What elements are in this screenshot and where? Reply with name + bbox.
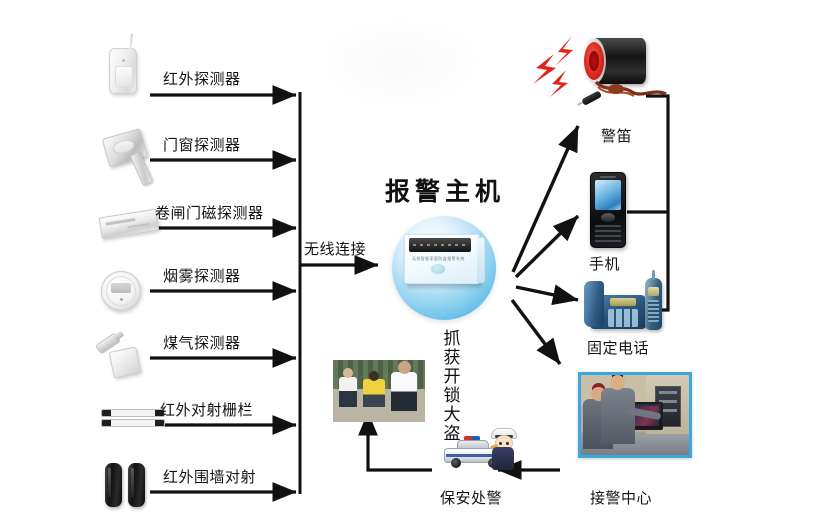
beam-unit-left bbox=[105, 463, 122, 507]
host-brand-text: 无线智能家庭防盗报警系统 bbox=[412, 256, 465, 262]
input-label-0: 红外探测器 bbox=[163, 68, 241, 89]
mobile-phone-icon bbox=[590, 172, 626, 248]
handset-keypad bbox=[648, 300, 659, 322]
suspect-center bbox=[363, 379, 385, 408]
phone-cradle bbox=[584, 281, 604, 327]
landline-phone-icon bbox=[584, 281, 646, 329]
handset-antenna bbox=[652, 270, 655, 280]
background-watermark bbox=[300, 8, 500, 118]
lens bbox=[115, 66, 133, 87]
output-label-3: 接警中心 bbox=[590, 487, 652, 508]
door-window-contact-slim bbox=[130, 151, 154, 187]
input-label-6: 红外围墙对射 bbox=[163, 466, 256, 487]
person-left bbox=[339, 377, 357, 407]
input-label-1: 门窗探测器 bbox=[163, 134, 241, 155]
cordless-handset-icon bbox=[645, 278, 662, 330]
arrest-caption-vertical: 抓获开锁大盗 bbox=[442, 330, 462, 444]
infrared-beam-fence-icon bbox=[101, 408, 163, 430]
host-logo bbox=[431, 264, 445, 274]
beam-rail-bottom bbox=[101, 419, 165, 427]
infrared-wall-beam-icon bbox=[105, 463, 149, 507]
earpiece bbox=[600, 176, 616, 178]
input-label-4: 煤气探测器 bbox=[163, 332, 241, 353]
gas-detector-icon bbox=[108, 346, 141, 378]
beam-rail-top bbox=[101, 409, 165, 417]
alarm-host-device: 无线智能家庭防盗报警系统 bbox=[404, 234, 480, 284]
smoke-detector-icon bbox=[101, 271, 141, 311]
label-strip-2 bbox=[127, 223, 149, 228]
phone-screen bbox=[595, 180, 621, 210]
output-label-1: 手机 bbox=[589, 253, 620, 274]
rolling-shutter-contact-icon bbox=[99, 209, 160, 240]
siren-cable bbox=[594, 78, 670, 102]
output-label-0: 警笛 bbox=[601, 125, 632, 146]
phone-keypad bbox=[608, 309, 638, 327]
input-label-3: 烟雾探测器 bbox=[163, 265, 241, 286]
host-display bbox=[409, 238, 471, 252]
indicator bbox=[120, 298, 123, 301]
input-label-5: 红外对射栅栏 bbox=[160, 399, 253, 420]
label-strip bbox=[106, 218, 136, 226]
antenna bbox=[129, 34, 133, 51]
wireless-bus-label: 无线连接 bbox=[304, 238, 366, 259]
police-to-arrest-line bbox=[368, 424, 432, 470]
page-title: 报警主机 bbox=[385, 172, 505, 208]
beam-unit-right bbox=[128, 463, 145, 507]
navigation-pad bbox=[601, 213, 615, 222]
wheel-front bbox=[451, 458, 461, 468]
siren-sound-waves-icon bbox=[528, 34, 588, 104]
operator-standing bbox=[601, 388, 635, 444]
handset-display bbox=[648, 287, 659, 296]
security-response-label: 保安处警 bbox=[440, 487, 502, 508]
police-car-officer-icon bbox=[444, 428, 518, 470]
output-label-2: 固定电话 bbox=[587, 337, 649, 358]
phone-display bbox=[610, 298, 636, 306]
pir-detector-icon bbox=[109, 48, 137, 94]
officer-uniform bbox=[492, 447, 514, 470]
host-side-panel bbox=[477, 237, 485, 283]
cartoon-officer bbox=[488, 428, 518, 470]
led bbox=[122, 59, 125, 62]
arrest-scene-photo bbox=[333, 360, 425, 422]
alarm-receiving-center-photo bbox=[578, 372, 692, 458]
keypad bbox=[595, 225, 621, 244]
grill bbox=[111, 283, 131, 293]
output-arrows bbox=[512, 126, 578, 364]
officer-right bbox=[391, 372, 417, 410]
input-label-2: 卷闸门磁探测器 bbox=[155, 202, 264, 223]
diagram-canvas: 红外探测器 门窗探测器 卷闸门磁探测器 烟雾探测器 煤气探测器 红外对射栅栏 红… bbox=[0, 0, 825, 524]
